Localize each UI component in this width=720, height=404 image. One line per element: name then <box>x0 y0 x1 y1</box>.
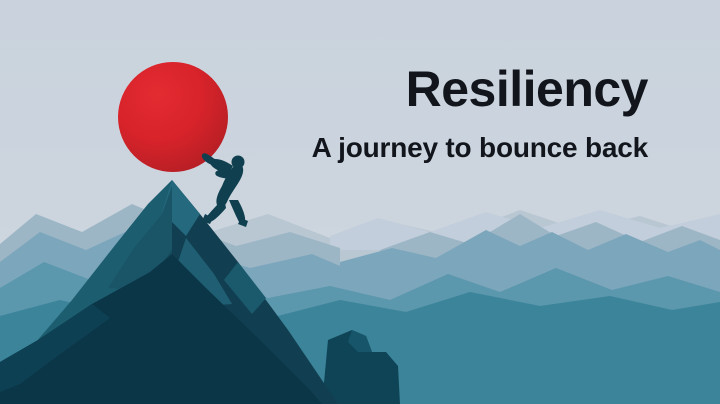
mountain-illustration <box>0 0 720 404</box>
red-boulder <box>118 62 228 172</box>
slide-canvas: Resiliency A journey to bounce back <box>0 0 720 404</box>
